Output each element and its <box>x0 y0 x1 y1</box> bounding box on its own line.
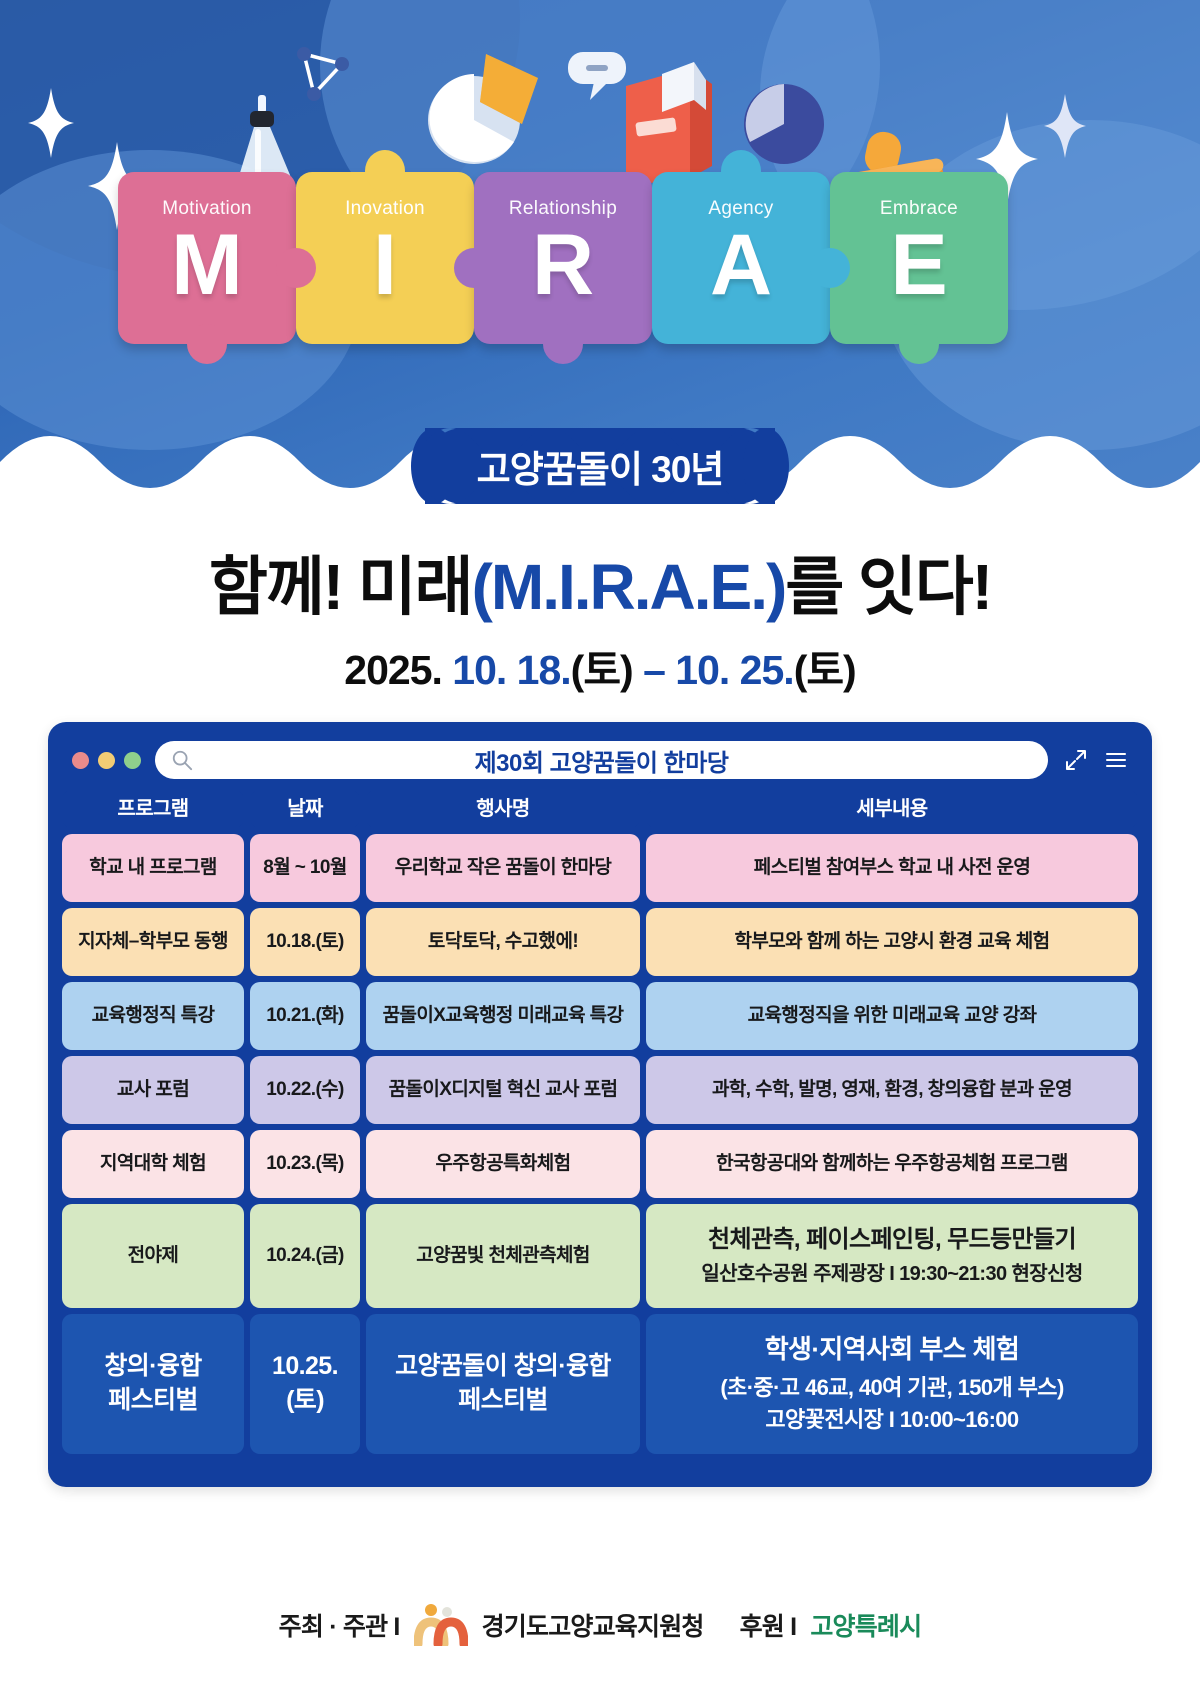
expand-arrow-icon[interactable] <box>1064 748 1088 772</box>
detail-sub-text: 일산호수공원 주제광장 I 19:30~21:30 현장신청 <box>701 1261 1082 1288</box>
puzzle-knob-bottom <box>543 324 583 364</box>
pie-chart-icon <box>418 48 546 173</box>
table-row: 지자체–학부모 동행 10.18.(토) 토닥토닥, 수고했에! 학부모와 함께… <box>62 908 1138 976</box>
headline-acronym: (M.I.R.A.E.) <box>472 551 786 623</box>
maximize-dot-icon[interactable] <box>124 752 141 769</box>
puzzle-piece-agency: Agency A <box>652 172 830 344</box>
date-line-1: 10.25. <box>272 1350 338 1384</box>
date-end-day: (토) <box>794 647 856 693</box>
date-dash: – <box>633 647 676 693</box>
date-end: 10. 25. <box>675 647 793 693</box>
event-dateline: 2025. 10. 18.(토) – 10. 25.(토) <box>0 636 1200 696</box>
search-input[interactable]: 제30회 고양꿈돌이 한마당 <box>155 741 1048 779</box>
table-row-eve: 전야제 10.24.(금) 고양꿈빛 천체관측체험 천체관측, 페이스페인팅, … <box>62 1204 1138 1308</box>
cell-event: 고양꿈돌이 창의·융합 페스티벌 <box>366 1314 640 1454</box>
column-header-date: 날짜 <box>250 790 360 828</box>
window-controls[interactable] <box>72 752 141 769</box>
cell-program: 창의·융합 페스티벌 <box>62 1314 244 1454</box>
puzzle-letter: I <box>373 222 397 308</box>
sparkle-icon <box>28 88 74 158</box>
table-row: 교사 포럼 10.22.(수) 꿈돌이X디지털 혁신 교사 포럼 과학, 수학,… <box>62 1056 1138 1124</box>
hamburger-menu-icon[interactable] <box>1104 748 1128 772</box>
column-header-program: 프로그램 <box>62 790 244 828</box>
column-header-detail: 세부내용 <box>646 790 1138 828</box>
host-label: 주최 · 주관 I <box>279 1607 400 1643</box>
cell-detail: 과학, 수학, 발명, 영재, 환경, 창의융합 분과 운영 <box>646 1056 1138 1124</box>
cell-date: 8월 ~ 10월 <box>250 834 360 902</box>
puzzle-letter: E <box>890 222 947 308</box>
puzzle-socket <box>810 248 850 288</box>
cell-event: 꿈돌이X디지털 혁신 교사 포럼 <box>366 1056 640 1124</box>
gyeonggi-goyang-logo-icon <box>414 1604 468 1646</box>
puzzle-letter: R <box>532 222 594 308</box>
cell-event: 우주항공특화체험 <box>366 1130 640 1198</box>
event-line-2: 페스티벌 <box>458 1384 548 1418</box>
headline-part3: 를 잇다! <box>785 551 991 623</box>
puzzle-knob-bottom <box>187 324 227 364</box>
detail-sub-text-2: 고양꽃전시장 I 10:00~16:00 <box>765 1404 1018 1436</box>
puzzle-piece-inovation: Inovation I <box>296 172 474 344</box>
puzzle-socket <box>276 248 316 288</box>
cell-event: 고양꿈빛 천체관측체험 <box>366 1204 640 1308</box>
cell-event: 토닥토닥, 수고했에! <box>366 908 640 976</box>
schedule-table: 프로그램 날짜 행사명 세부내용 학교 내 프로그램 8월 ~ 10월 우리학교… <box>58 788 1142 1466</box>
column-header-event: 행사명 <box>366 790 640 828</box>
cell-program: 지자체–학부모 동행 <box>62 908 244 976</box>
table-row: 학교 내 프로그램 8월 ~ 10월 우리학교 작은 꿈돌이 한마당 페스티벌 … <box>62 834 1138 902</box>
table-row: 교육행정직 특강 10.21.(화) 꿈돌이X교육행정 미래교육 특강 교육행정… <box>62 982 1138 1050</box>
cell-event: 꿈돌이X교육행정 미래교육 특강 <box>366 982 640 1050</box>
table-row-festival: 창의·융합 페스티벌 10.25. (토) 고양꿈돌이 창의·융합 페스티벌 학… <box>62 1314 1138 1454</box>
cell-date: 10.18.(토) <box>250 908 360 976</box>
cell-program: 전야제 <box>62 1204 244 1308</box>
cell-program: 지역대학 체험 <box>62 1130 244 1198</box>
table-row: 지역대학 체험 10.23.(목) 우주항공특화체험 한국항공대와 함께하는 우… <box>62 1130 1138 1198</box>
anniversary-banner: 고양꿈돌이 30년 <box>425 428 775 504</box>
event-line-1: 고양꿈돌이 창의·융합 <box>395 1350 611 1384</box>
event-poster: Motivation M Inovation I Relationship R … <box>0 0 1200 1697</box>
puzzle-letter: A <box>710 222 772 308</box>
minimize-dot-icon[interactable] <box>98 752 115 769</box>
headline-part1: 함께! 미래 <box>209 551 472 623</box>
puzzle-piece-embrace: Embrace E <box>830 172 1008 344</box>
date-line-2: (토) <box>286 1384 324 1418</box>
mirae-puzzle-row: Motivation M Inovation I Relationship R … <box>0 172 1200 372</box>
cell-program: 학교 내 프로그램 <box>62 834 244 902</box>
window-title: 제30회 고양꿈돌이 한마당 <box>155 743 1048 778</box>
detail-main-text: 학생·지역사회 부스 체험 <box>765 1332 1020 1367</box>
table-header-row: 프로그램 날짜 행사명 세부내용 <box>62 790 1138 828</box>
cell-date: 10.25. (토) <box>250 1314 360 1454</box>
detail-main-text: 천체관측, 페이스페인팅, 무드등만들기 <box>708 1224 1076 1256</box>
sparkle-icon <box>1044 94 1086 158</box>
page-title: 함께! 미래(M.I.R.A.E.)를 잇다! <box>0 536 1200 628</box>
cell-detail: 천체관측, 페이스페인팅, 무드등만들기 일산호수공원 주제광장 I 19:30… <box>646 1204 1138 1308</box>
date-start-day: (토) <box>571 647 633 693</box>
program-line-2: 페스티벌 <box>108 1384 198 1418</box>
poster-footer: 주최 · 주관 I 경기도고양교육지원청 후원 I 고양특례시 <box>0 1604 1200 1646</box>
cell-detail: 교육행정직을 위한 미래교육 교양 강좌 <box>646 982 1138 1050</box>
detail-sub-text-1: (초·중·고 46교, 40여 기관, 150개 부스) <box>720 1372 1063 1404</box>
sponsor-name: 고양특례시 <box>810 1607 921 1643</box>
cell-detail: 페스티벌 참여부스 학교 내 사전 운영 <box>646 834 1138 902</box>
cell-event: 우리학교 작은 꿈돌이 한마당 <box>366 834 640 902</box>
puzzle-socket <box>454 248 494 288</box>
puzzle-piece-relationship: Relationship R <box>474 172 652 344</box>
puzzle-piece-motivation: Motivation M <box>118 172 296 344</box>
window-actions[interactable] <box>1064 748 1128 772</box>
sponsor-label: 후원 I <box>740 1607 797 1643</box>
date-year: 2025. <box>344 647 452 693</box>
cell-program: 교육행정직 특강 <box>62 982 244 1050</box>
cell-date: 10.24.(금) <box>250 1204 360 1308</box>
date-start: 10. 18. <box>452 647 570 693</box>
cell-date: 10.22.(수) <box>250 1056 360 1124</box>
cell-detail: 학생·지역사회 부스 체험 (초·중·고 46교, 40여 기관, 150개 부… <box>646 1314 1138 1454</box>
window-titlebar: 제30회 고양꿈돌이 한마당 <box>58 732 1142 788</box>
organizer-name: 경기도고양교육지원청 <box>482 1607 704 1643</box>
puzzle-tab <box>365 150 405 192</box>
banner-text: 고양꿈돌이 30년 <box>477 439 724 493</box>
cell-program: 교사 포럼 <box>62 1056 244 1124</box>
program-line-1: 창의·융합 <box>104 1350 201 1384</box>
cell-date: 10.23.(목) <box>250 1130 360 1198</box>
cell-date: 10.21.(화) <box>250 982 360 1050</box>
puzzle-knob-bottom <box>899 324 939 364</box>
puzzle-letter: M <box>171 222 243 308</box>
schedule-window: 제30회 고양꿈돌이 한마당 프로그램 날짜 행사명 세부 <box>48 722 1152 1487</box>
cell-detail: 한국항공대와 함께하는 우주항공체험 프로그램 <box>646 1130 1138 1198</box>
close-dot-icon[interactable] <box>72 752 89 769</box>
puzzle-tab <box>721 150 761 192</box>
cell-detail: 학부모와 함께 하는 고양시 환경 교육 체험 <box>646 908 1138 976</box>
